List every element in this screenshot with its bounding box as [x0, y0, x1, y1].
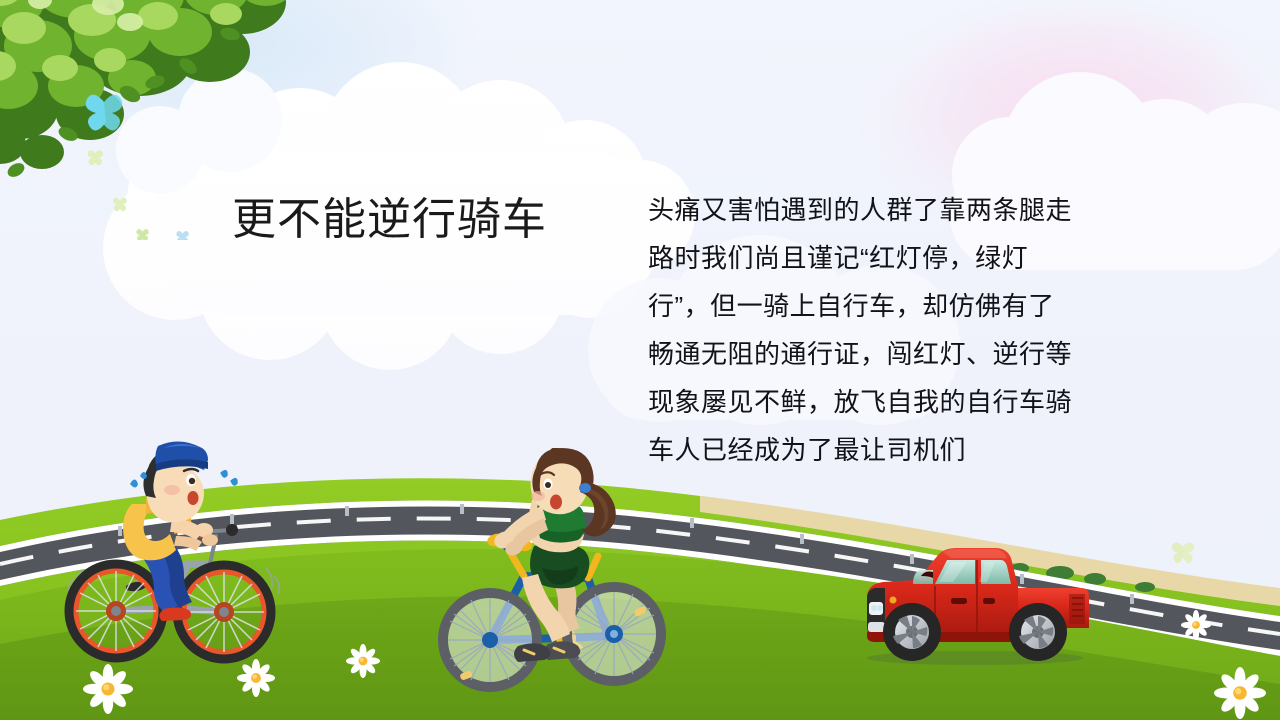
body-line-1: 头痛又害怕遇到的人群了靠两条腿走: [648, 186, 1098, 234]
slide-canvas: 更不能逆行骑车 头痛又害怕遇到的人群了靠两条腿走 路时我们尚且谨记“红灯停，绿灯…: [0, 0, 1280, 720]
boy-on-bicycle-illustration: [60, 440, 320, 670]
bike-wheel-rear: [70, 565, 162, 657]
body-line-4: 畅通无阻的通行证，闯红灯、逆行等: [648, 330, 1098, 378]
girl-on-bicycle-illustration: [438, 448, 688, 693]
body-paragraph: 头痛又害怕遇到的人群了靠两条腿走 路时我们尚且谨记“红灯停，绿灯 行”，但一骑上…: [648, 186, 1098, 474]
body-line-2: 路时我们尚且谨记“红灯停，绿灯: [648, 234, 1098, 282]
body-line-5: 现象屡见不鲜，放飞自我的自行车骑: [648, 378, 1098, 426]
bike-wheel-rear-girl: [443, 593, 537, 687]
truck-wheel-rear: [1009, 603, 1067, 661]
body-line-3: 行”，但一骑上自行车，却仿佛有了: [648, 282, 1098, 330]
bike-wheel-front-girl: [567, 587, 661, 681]
page-title: 更不能逆行骑车: [232, 192, 547, 248]
red-pickup-truck-illustration: [855, 540, 1095, 665]
truck-wheel-front: [883, 603, 941, 661]
bike-wheel-front: [178, 566, 270, 658]
